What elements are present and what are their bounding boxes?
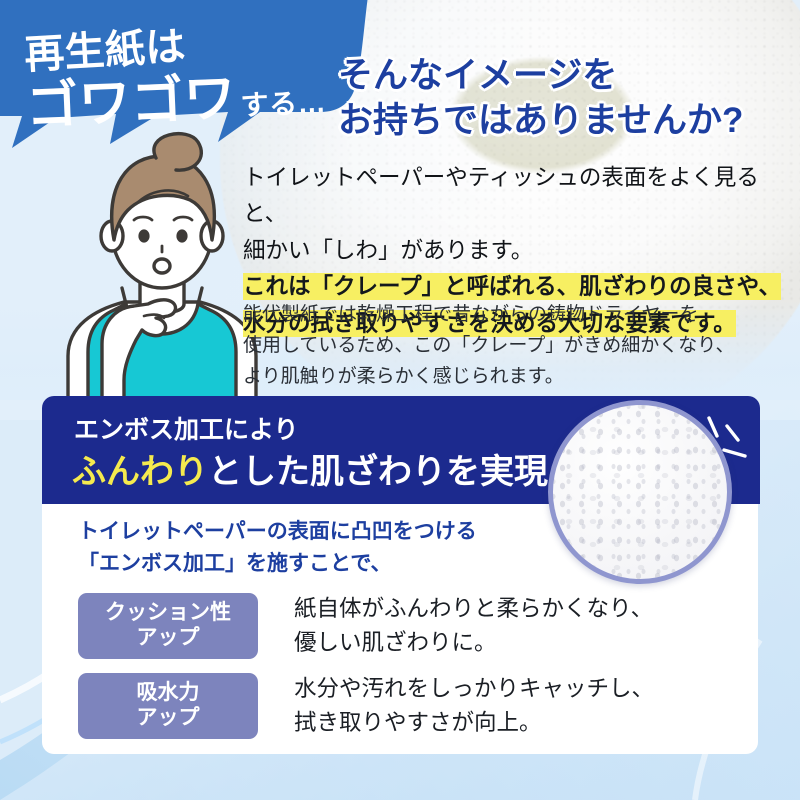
secondary-paragraph-line-2: 使用しているため、この「クレープ」がきめ細かくなり、 [243,331,788,362]
banner-line-2-rest: とした肌ざわりを実現 [208,453,548,491]
badge-cushion-line-1: クッション性 [105,601,231,626]
secondary-paragraph-line-3: より肌触りが柔らかく感じられます。 [243,362,788,393]
highlighted-line-1: これは「クレープ」と呼ばれる、肌ざわりの良さや、 [243,273,781,300]
card-lead-text: トイレットペーパーの表面に凸凹をつける 「エンボス加工」を施すことで、 [78,516,477,580]
bubble-line-2: ゴワゴワする… [25,52,328,139]
feature-row-cushion: クッション性 アップ 紙自体がふんわりと柔らかくなり、 優しい肌ざわりに。 [78,592,653,660]
bubble-line-2-main: ゴワゴワ [25,69,237,136]
sparkle-icon [700,412,770,470]
feature-absorbency-line-1: 水分や汚れをしっかりキャッチし、 [294,672,654,706]
secondary-paragraph: 能代製紙では乾燥工程で昔ながらの鋳物ドライヤーを 使用しているため、この「クレー… [243,300,788,392]
banner-line-1: エンボス加工により [74,410,299,446]
badge-absorbency-line-1: 吸水力 [137,681,200,706]
feature-absorbency-description: 水分や汚れをしっかりキャッチし、 拭き取りやすさが向上。 [294,672,654,740]
banner-line-2: ふんわりとした肌ざわりを実現 [72,444,548,493]
infographic-root: 再生紙は ゴワゴワする… そんなイメージを お持ちではありませんか? [0,0,800,800]
feature-row-absorbency: 吸水力 アップ 水分や汚れをしっかりキャッチし、 拭き取りやすさが向上。 [78,672,654,740]
question-heading-line-2: お持ちではありませんか? [338,99,743,144]
thinking-woman-illustration [52,128,272,400]
banner-line-2-emphasis: ふんわり [72,453,208,491]
question-heading: そんなイメージを お持ちではありませんか? [338,54,743,144]
bubble-line-2-suffix: する… [240,87,327,122]
card-lead-line-2: 「エンボス加工」を施すことで、 [78,548,477,580]
badge-absorbency: 吸水力 アップ [78,673,258,739]
secondary-paragraph-line-1: 能代製紙では乾燥工程で昔ながらの鋳物ドライヤーを [243,300,788,331]
intro-paragraph-line-2: 細かい「しわ」があります。 [243,233,788,269]
feature-cushion-line-1: 紙自体がふんわりと柔らかくなり、 [294,592,653,626]
feature-cushion-description: 紙自体がふんわりと柔らかくなり、 優しい肌ざわりに。 [294,592,653,660]
card-lead-line-1: トイレットペーパーの表面に凸凹をつける [78,516,477,548]
intro-paragraph-line-1: トイレットペーパーやティッシュの表面をよく見ると、 [243,160,788,233]
badge-cushion: クッション性 アップ [78,593,258,659]
question-heading-line-1: そんなイメージを [338,54,743,99]
feature-absorbency-line-2: 拭き取りやすさが向上。 [294,706,654,740]
badge-cushion-line-2: アップ [137,626,200,651]
feature-cushion-line-2: 優しい肌ざわりに。 [294,626,653,660]
badge-absorbency-line-2: アップ [137,706,200,731]
